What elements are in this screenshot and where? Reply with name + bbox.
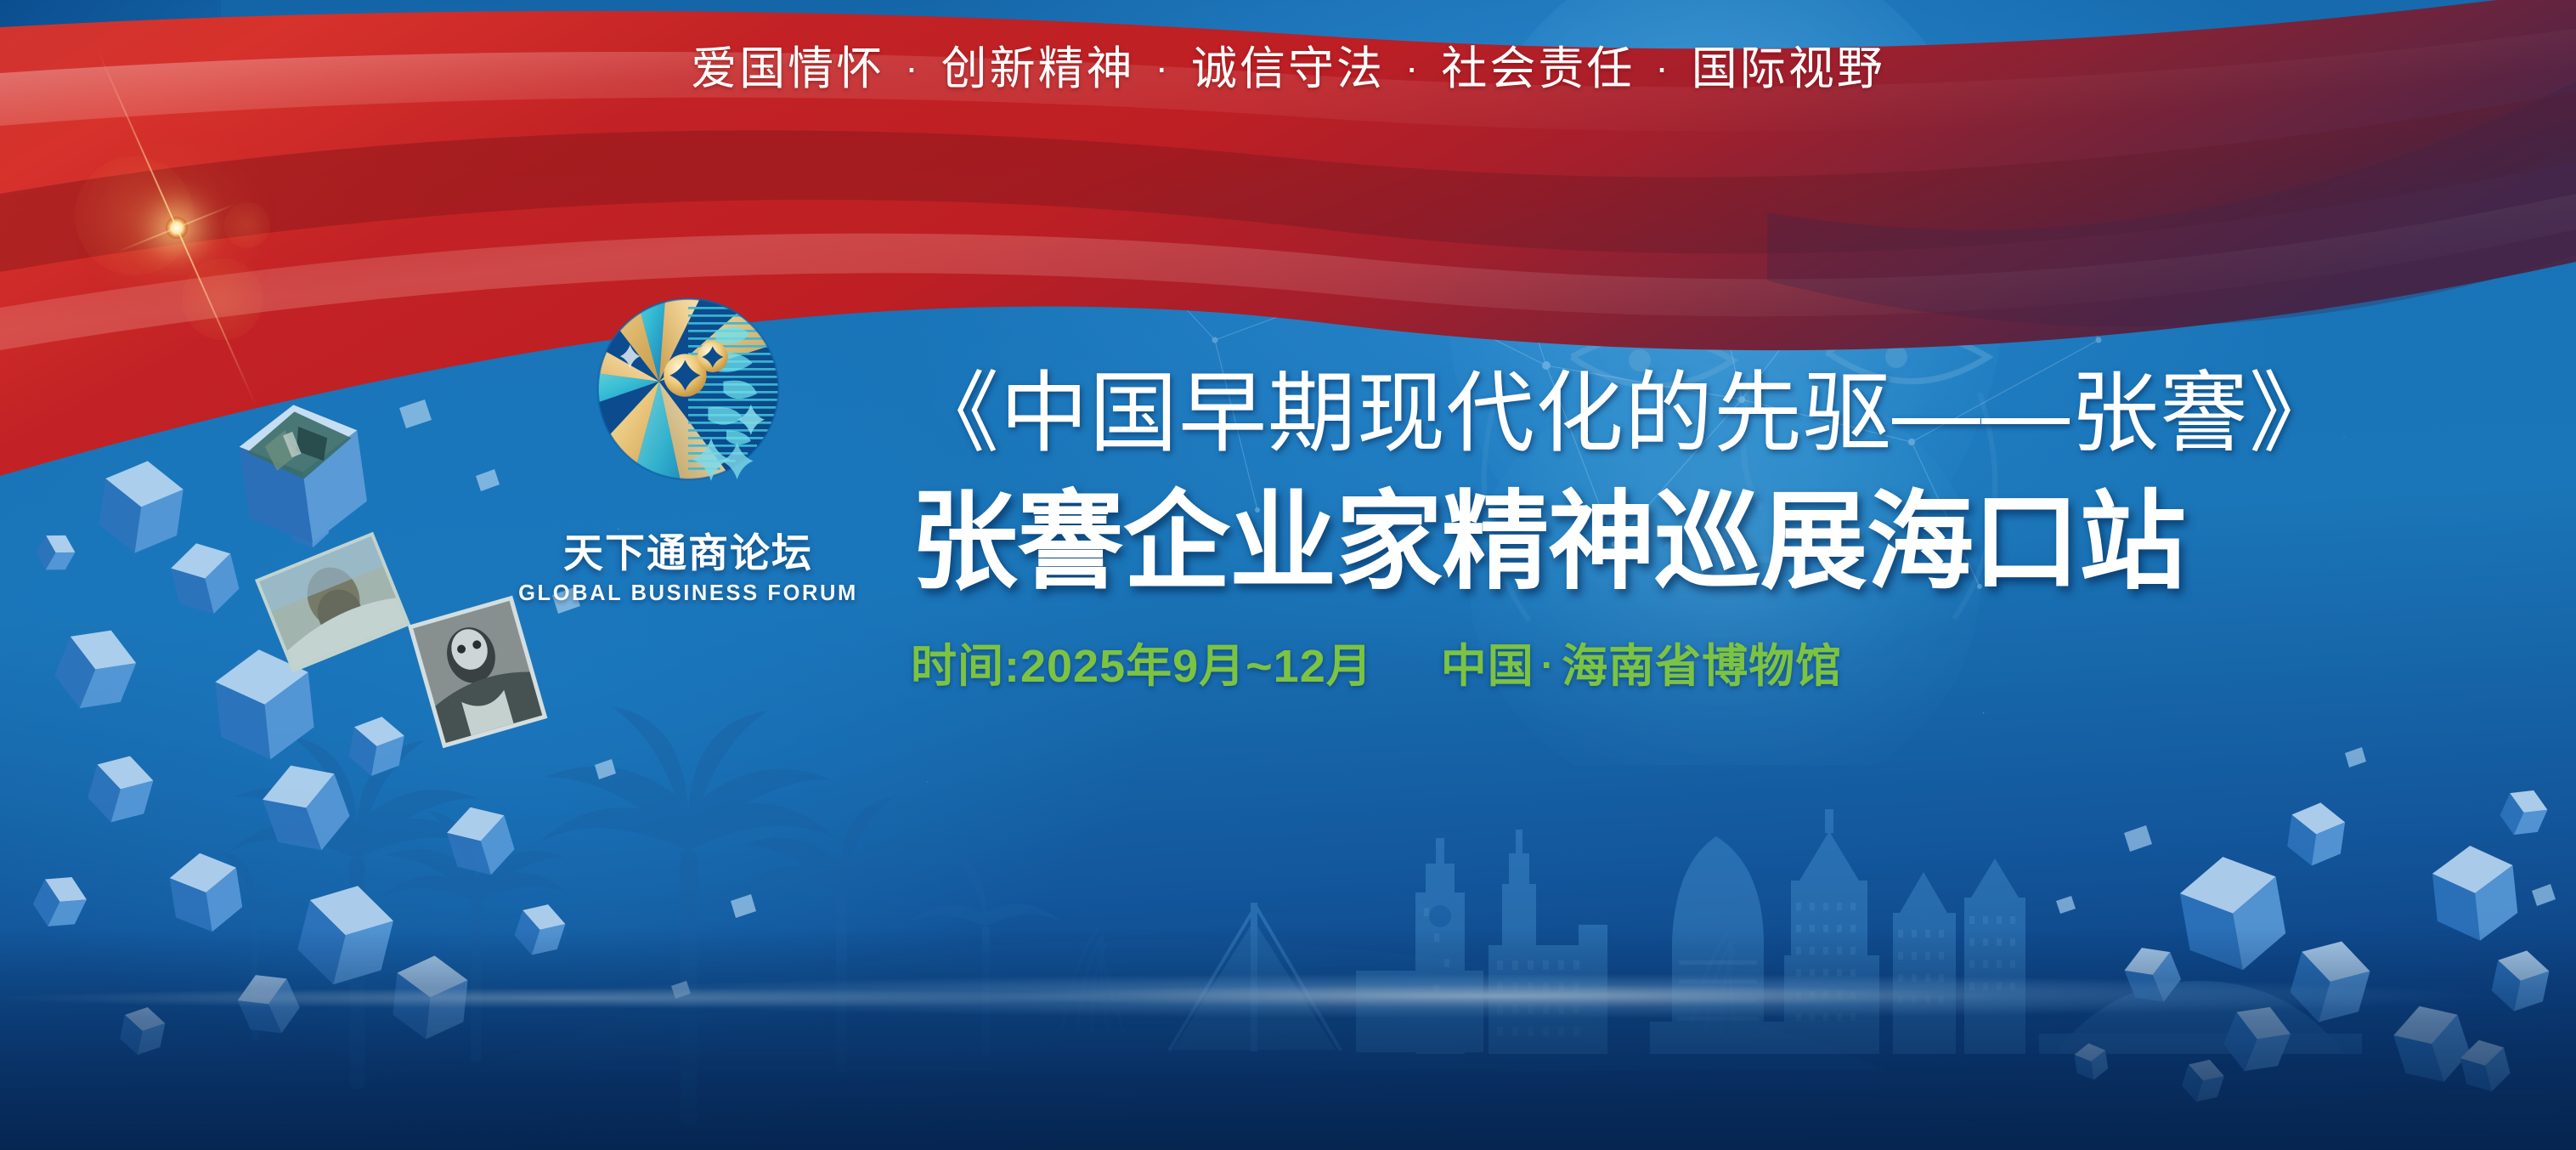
logo-name-en: GLOBAL BUSINESS FORUM xyxy=(510,581,867,606)
bottom-vignette xyxy=(0,929,2576,1150)
event-location-separator: · xyxy=(1534,642,1562,688)
banner-stage: 爱国情怀 · 创新精神 · 诚信守法 · 社会责任 · 国际视野 xyxy=(0,0,2576,1150)
slogan-separator-4: · xyxy=(1650,45,1675,89)
event-location-country: 中国 xyxy=(1441,628,1534,695)
photo-cube-historic-3 xyxy=(408,596,547,748)
event-date: 时间:2025年9月~12月 xyxy=(911,628,1373,695)
exhibition-subtitle: 张謇企业家精神巡展海口站 xyxy=(911,486,2338,598)
slogan-item-5: 国际视野 xyxy=(1692,43,1885,94)
slogan-separator-2: · xyxy=(1150,45,1176,89)
photo-cube-historic-2 xyxy=(255,532,410,673)
slogan-item-2: 创新精神 xyxy=(941,43,1135,94)
slogan-separator-3: · xyxy=(1400,45,1426,89)
slogan-item-4: 社会责任 xyxy=(1441,43,1635,94)
event-location-venue: 海南省博物馆 xyxy=(1562,628,1842,695)
forum-logo: 天下通商论坛 GLOBAL BUSINESS FORUM xyxy=(510,280,867,606)
slogan-line: 爱国情怀 · 创新精神 · 诚信守法 · 社会责任 · 国际视野 xyxy=(0,31,2576,98)
meta-row: 时间:2025年9月~12月 中国 · 海南省博物馆 xyxy=(911,628,2338,695)
slogan-item-3: 诚信守法 xyxy=(1191,43,1385,94)
globe-swirl-logo xyxy=(573,280,803,510)
logo-name-cn: 天下通商论坛 xyxy=(510,520,867,579)
slogan-separator-1: · xyxy=(900,45,925,89)
slogan-item-1: 爱国情怀 xyxy=(691,43,884,94)
coin-star-small xyxy=(698,342,728,372)
exhibition-title: 《中国早期现代化的先驱——张謇》 xyxy=(911,367,2338,461)
main-text-block: 《中国早期现代化的先驱——张謇》 张謇企业家精神巡展海口站 时间:2025年9月… xyxy=(911,367,2338,695)
